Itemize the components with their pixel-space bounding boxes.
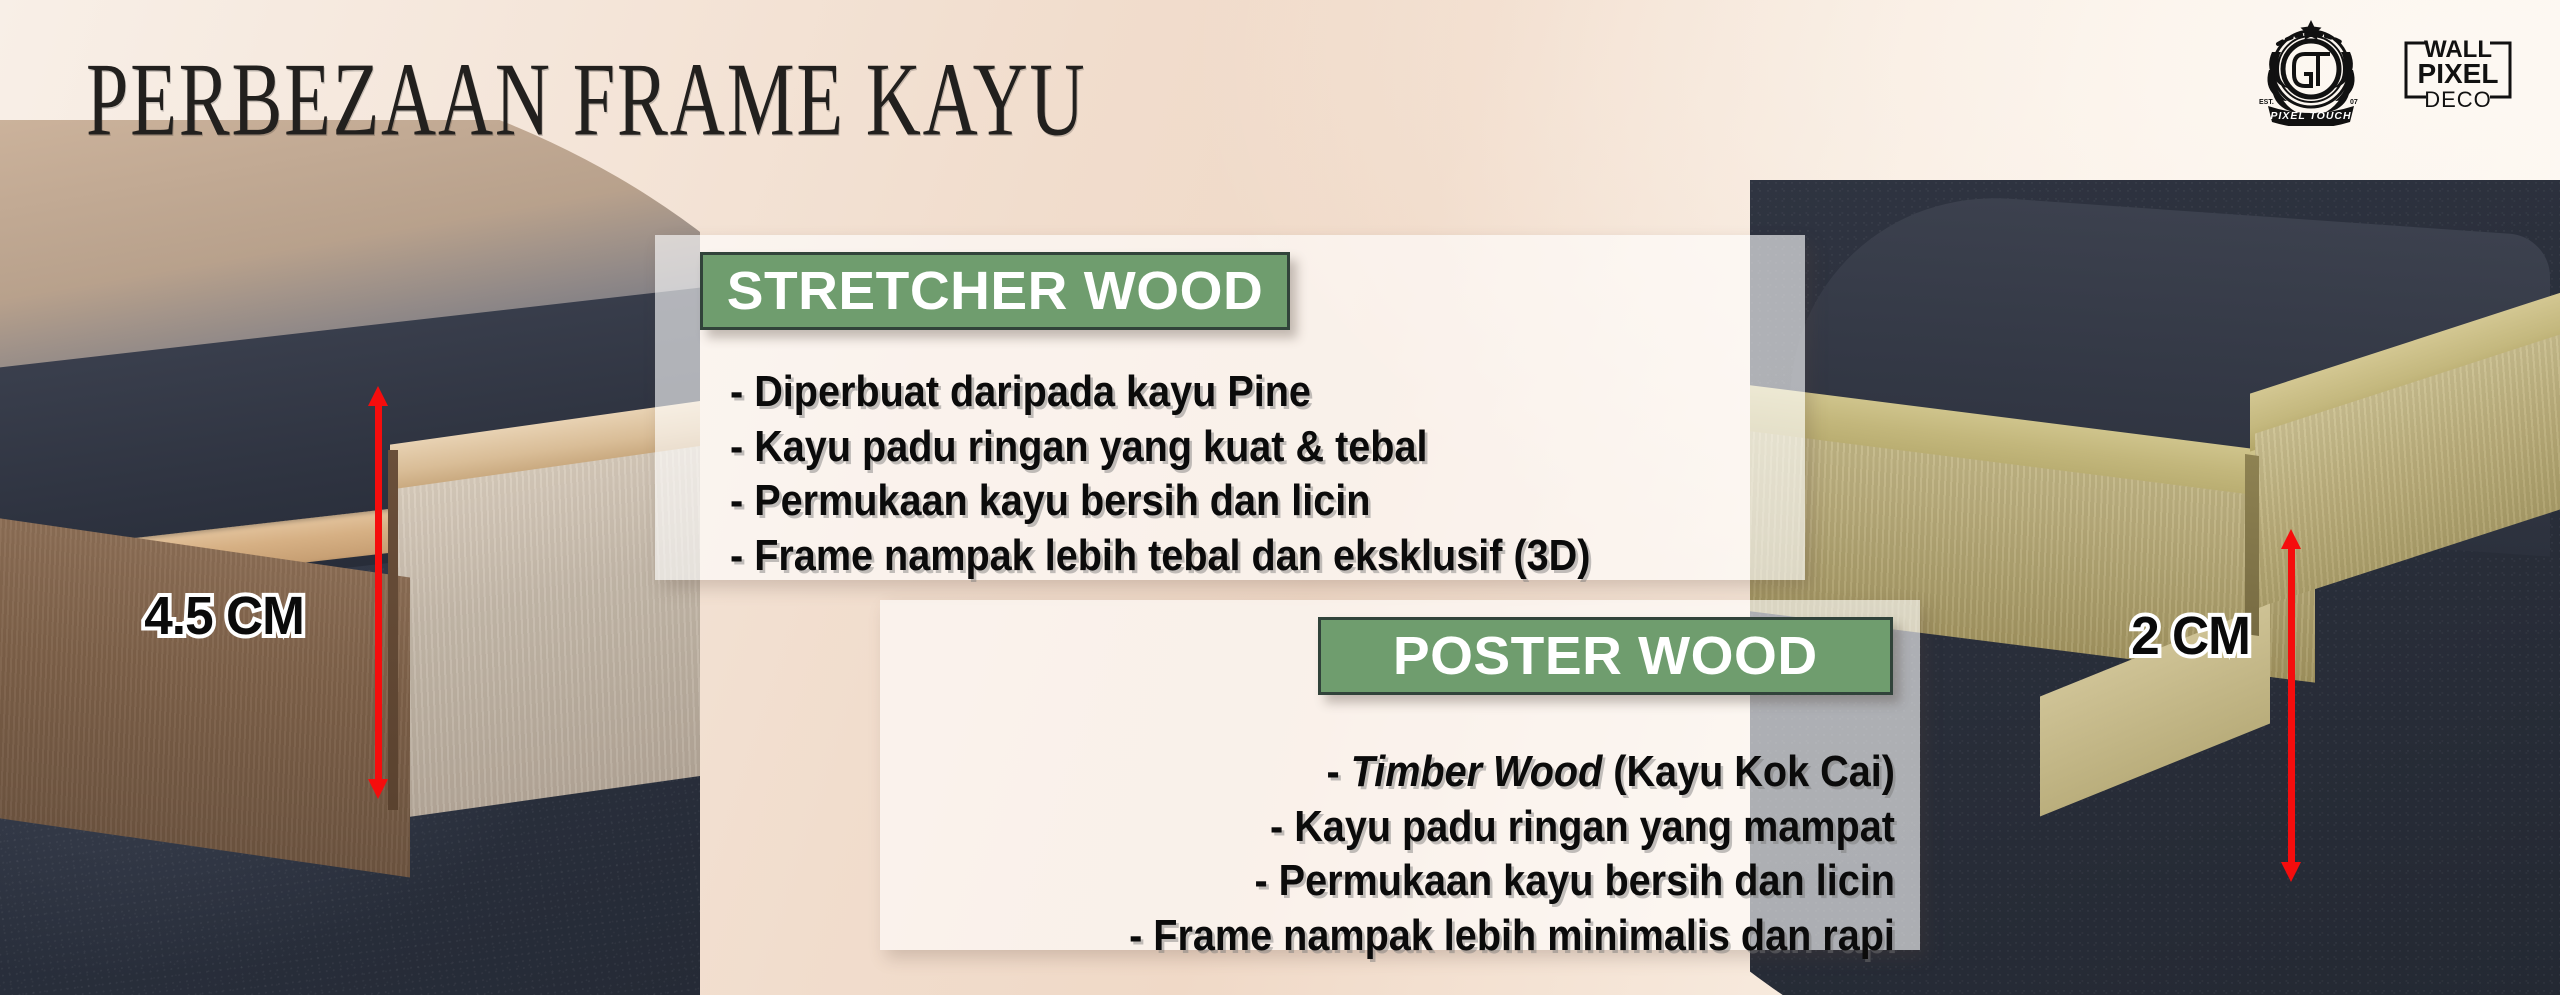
arrow-head-down-icon [2281, 862, 2301, 882]
poster-wood-chip: POSTER WOOD [1318, 617, 1893, 695]
list-item: - Timber Wood (Kayu Kok Cai) [1129, 745, 1895, 800]
badge-est-left: EST. [2259, 99, 2274, 106]
badge-ribbon-text: PIXEL TOUCH [2270, 110, 2351, 122]
pixel-touch-badge-logo: EST. 07 PIXEL TOUCH [2256, 14, 2366, 126]
list-item: - Frame nampak lebih minimalis dan rapi [1129, 909, 1895, 964]
page-title: PERBEZAAN FRAME KAYU [86, 40, 1086, 160]
arrow-head-up-icon [2281, 529, 2301, 549]
list-item: - Kayu padu ringan yang kuat & tebal [730, 420, 1590, 475]
stretcher-wood-frame-photo [0, 120, 700, 995]
list-item: - Kayu padu ringan yang mampat [1129, 800, 1895, 855]
arrow-shaft [375, 405, 382, 780]
stretcher-measure-label: 4.5 CM [144, 585, 304, 647]
poster-measure-label: 2 CM [2131, 605, 2250, 667]
poster-wood-bullets: - Timber Wood (Kayu Kok Cai) - Kayu padu… [1129, 745, 1895, 964]
banner-root: PERBEZAAN FRAME KAYU [0, 0, 2560, 995]
wpd-line-2: PIXEL [2418, 58, 2499, 89]
badge-est-right: 07 [2350, 99, 2358, 106]
frame-corner-seam [388, 450, 398, 810]
wpd-line-3: DECO [2424, 87, 2492, 112]
list-item: - Diperbuat daripada kayu Pine [730, 365, 1590, 420]
timber-wood-emphasis: Timber Wood [1351, 747, 1603, 796]
logo-group: EST. 07 PIXEL TOUCH WALL PIXEL DECO [2256, 14, 2520, 126]
arrow-head-up-icon [368, 386, 388, 406]
list-item: - Permukaan kayu bersih dan licin [730, 474, 1590, 529]
list-item: - Frame nampak lebih tebal dan eksklusif… [730, 529, 1590, 584]
poster-wood-chip-label: POSTER WOOD [1393, 625, 1818, 687]
stretcher-wood-bullets: - Diperbuat daripada kayu Pine - Kayu pa… [730, 365, 1590, 584]
arrow-head-down-icon [368, 779, 388, 799]
stretcher-wood-chip: STRETCHER WOOD [700, 252, 1290, 330]
wall-pixel-deco-logo: WALL PIXEL DECO [2396, 27, 2520, 113]
stretcher-wood-chip-label: STRETCHER WOOD [727, 260, 1264, 322]
list-item: - Permukaan kayu bersih dan licin [1129, 854, 1895, 909]
arrow-shaft [2288, 548, 2295, 863]
